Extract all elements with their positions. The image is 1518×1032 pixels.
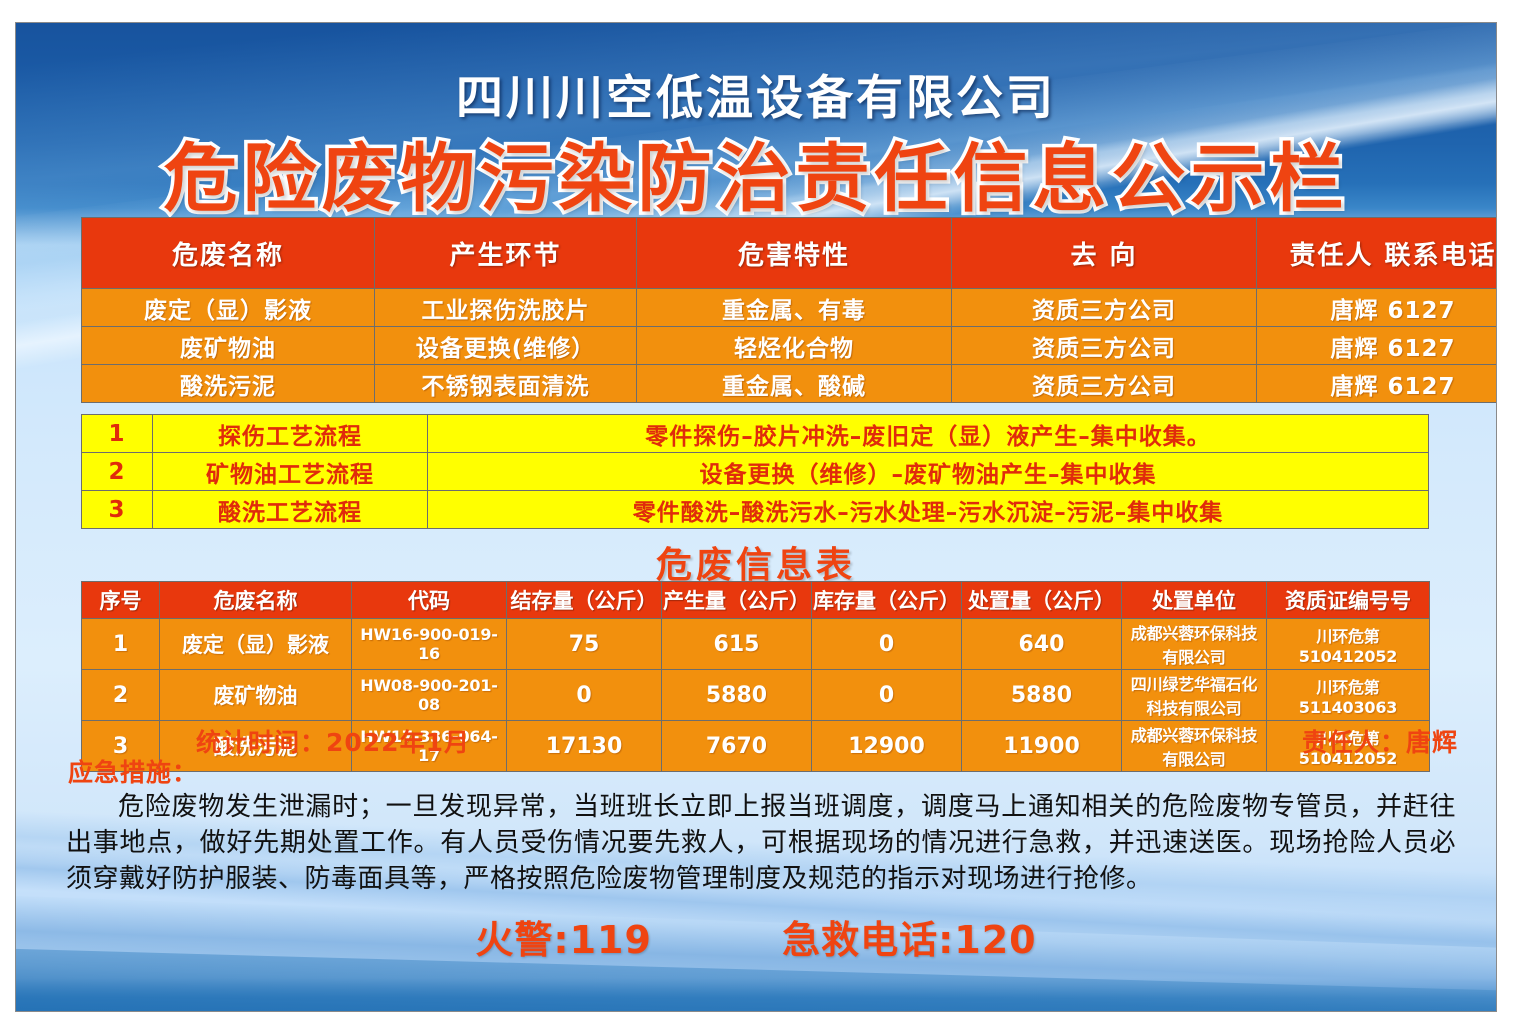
cell-disposed: 640 xyxy=(962,619,1122,670)
cell-destination: 资质三方公司 xyxy=(952,289,1257,327)
cell-contact: 唐辉 6127 xyxy=(1257,365,1498,403)
cell-process-flow: 零件酸洗–酸洗污水–污水处理–污水沉淀–污泥–集中收集 xyxy=(428,491,1429,529)
cell-waste-name: 酸洗污泥 xyxy=(82,365,375,403)
table-row: 酸洗污泥 不锈钢表面清洗 重金属、酸碱 资质三方公司 唐辉 6127 xyxy=(82,365,1498,403)
emergency-measures-label: 应急措施： xyxy=(68,753,198,789)
cell-waste-name: 废矿物油 xyxy=(160,670,352,721)
col-header-code: 代码 xyxy=(352,582,507,619)
process-row: 2 矿物油工艺流程 设备更换（维修）–废矿物油产生–集中收集 xyxy=(82,453,1429,491)
responsible-person: 责任人：唐辉 xyxy=(1302,723,1458,759)
cell-destination: 资质三方公司 xyxy=(952,365,1257,403)
cell-code: HW16-900-019-16 xyxy=(352,619,507,670)
col-header-waste-name: 危废名称 xyxy=(82,218,375,289)
table-row: 废定（显）影液 工业探伤洗胶片 重金属、有毒 资质三方公司 唐辉 6127 xyxy=(82,289,1498,327)
statistics-time: 统计时间：2022年1月 xyxy=(196,723,470,759)
process-row: 1 探伤工艺流程 零件探伤–胶片冲洗–废旧定（显）液产生–集中收集。 xyxy=(82,415,1429,453)
table-header-row: 序号 危废名称 代码 结存量（公斤） 产生量（公斤） 库存量（公斤） 处置量（公… xyxy=(82,582,1430,619)
cell-generated: 615 xyxy=(662,619,812,670)
col-header-disposed: 处置量（公斤） xyxy=(962,582,1122,619)
cell-balance: 0 xyxy=(507,670,662,721)
col-header-waste-name: 危废名称 xyxy=(160,582,352,619)
cell-process-name: 矿物油工艺流程 xyxy=(153,453,428,491)
responsibility-table: 危废名称 产生环节 危害特性 去 向 责任人 联系电话 废定（显）影液 工业探伤… xyxy=(81,217,1497,403)
hotline-row: 火警:119 急救电话:120 xyxy=(16,909,1496,964)
emergency-measures-text: 危险废物发生泄漏时；一旦发现异常，当班班长立即上报当班调度，调度马上通知相关的危… xyxy=(66,789,1456,897)
col-header-process: 产生环节 xyxy=(375,218,637,289)
col-header-generated: 产生量（公斤） xyxy=(662,582,812,619)
cell-waste-name: 废定（显）影液 xyxy=(160,619,352,670)
cell-process: 设备更换(维修） xyxy=(375,327,637,365)
cell-generated: 5880 xyxy=(662,670,812,721)
col-header-stock: 库存量（公斤） xyxy=(812,582,962,619)
table-row: 2 废矿物油 HW08-900-201-08 0 5880 0 5880 四川绿… xyxy=(82,670,1430,721)
cell-hazard: 重金属、有毒 xyxy=(637,289,952,327)
cell-process: 不锈钢表面清洗 xyxy=(375,365,637,403)
table-header-row: 危废名称 产生环节 危害特性 去 向 责任人 联系电话 xyxy=(82,218,1498,289)
cell-no: 2 xyxy=(82,670,160,721)
cell-process-name: 酸洗工艺流程 xyxy=(153,491,428,529)
cell-unit: 四川绿艺华福石化科技有限公司 xyxy=(1122,670,1267,721)
company-name: 四川川空低温设备有限公司 xyxy=(16,59,1496,128)
col-header-license: 资质证编号号 xyxy=(1267,582,1430,619)
cell-process-flow: 零件探伤–胶片冲洗–废旧定（显）液产生–集中收集。 xyxy=(428,415,1429,453)
col-header-balance: 结存量（公斤） xyxy=(507,582,662,619)
cell-hazard: 重金属、酸碱 xyxy=(637,365,952,403)
cell-process-no: 3 xyxy=(82,491,153,529)
cell-process-no: 2 xyxy=(82,453,153,491)
emergency-measures-body: 危险废物发生泄漏时；一旦发现异常，当班班长立即上报当班调度，调度马上通知相关的危… xyxy=(66,789,1456,897)
process-flow-table: 1 探伤工艺流程 零件探伤–胶片冲洗–废旧定（显）液产生–集中收集。 2 矿物油… xyxy=(81,414,1429,529)
cell-process-flow: 设备更换（维修）–废矿物油产生–集中收集 xyxy=(428,453,1429,491)
col-header-unit: 处置单位 xyxy=(1122,582,1267,619)
cell-hazard: 轻烃化合物 xyxy=(637,327,952,365)
cell-balance: 75 xyxy=(507,619,662,670)
cell-no: 1 xyxy=(82,619,160,670)
cell-process-name: 探伤工艺流程 xyxy=(153,415,428,453)
cell-license: 川环危第511403063 xyxy=(1267,670,1430,721)
cell-contact: 唐辉 6127 xyxy=(1257,327,1498,365)
table-row: 1 废定（显）影液 HW16-900-019-16 75 615 0 640 成… xyxy=(82,619,1430,670)
col-header-no: 序号 xyxy=(82,582,160,619)
page-title: 危险废物污染防治责任信息公示栏 xyxy=(16,119,1496,226)
cell-license: 川环危第510412052 xyxy=(1267,619,1430,670)
col-header-destination: 去 向 xyxy=(952,218,1257,289)
process-row: 3 酸洗工艺流程 零件酸洗–酸洗污水–污水处理–污水沉淀–污泥–集中收集 xyxy=(82,491,1429,529)
col-header-hazard: 危害特性 xyxy=(637,218,952,289)
cell-waste-name: 废矿物油 xyxy=(82,327,375,365)
cell-code: HW08-900-201-08 xyxy=(352,670,507,721)
fire-hotline: 火警:119 xyxy=(475,918,652,962)
medical-hotline: 急救电话:120 xyxy=(782,918,1037,962)
stats-line: 统计时间：2022年1月 责任人：唐辉 xyxy=(16,723,1496,759)
cell-process-no: 1 xyxy=(82,415,153,453)
cell-process: 工业探伤洗胶片 xyxy=(375,289,637,327)
col-header-contact: 责任人 联系电话 xyxy=(1257,218,1498,289)
poster-root: 四川川空低温设备有限公司 危险废物污染防治责任信息公示栏 危废名称 产生环节 危… xyxy=(15,22,1497,1012)
cell-unit: 成都兴蓉环保科技有限公司 xyxy=(1122,619,1267,670)
cell-waste-name: 废定（显）影液 xyxy=(82,289,375,327)
cell-stock: 0 xyxy=(812,619,962,670)
cell-disposed: 5880 xyxy=(962,670,1122,721)
table-row: 废矿物油 设备更换(维修） 轻烃化合物 资质三方公司 唐辉 6127 xyxy=(82,327,1498,365)
cell-contact: 唐辉 6127 xyxy=(1257,289,1498,327)
cell-destination: 资质三方公司 xyxy=(952,327,1257,365)
cell-stock: 0 xyxy=(812,670,962,721)
